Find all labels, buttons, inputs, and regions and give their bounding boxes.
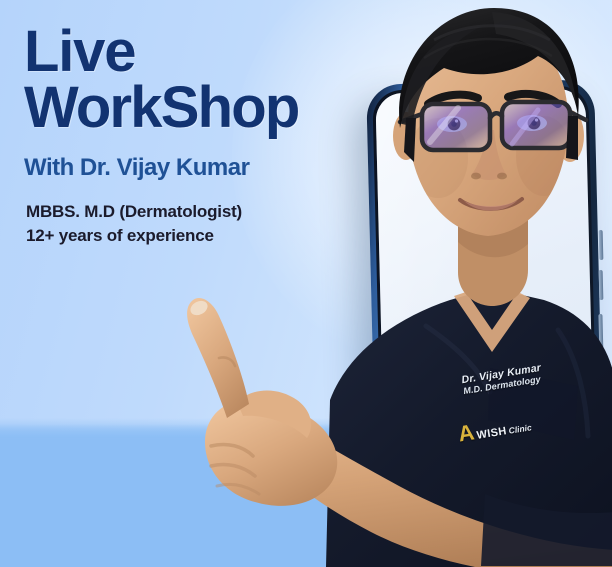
headline-block: Live WorkShop With Dr. Vijay Kumar MBBS.…: [24, 24, 354, 248]
subtitle: With Dr. Vijay Kumar: [24, 154, 354, 182]
phone-screen: [375, 89, 596, 561]
page-title: Live WorkShop: [24, 24, 354, 137]
phone-volume-down-button: [599, 270, 604, 300]
credential-line-1: MBBS. M.D (Dermatologist): [26, 200, 354, 224]
phone-bezel: [372, 85, 599, 563]
credential-line-2: 12+ years of experience: [26, 224, 354, 248]
headline-line-2: WorkShop: [24, 80, 354, 136]
phone-frame: [366, 79, 606, 567]
phone-volume-up-button: [599, 230, 604, 260]
headline-line-1: Live: [24, 19, 135, 84]
credentials-block: MBBS. M.D (Dermatologist) 12+ years of e…: [26, 200, 354, 248]
phone-mockup: [372, 82, 600, 567]
screen-glare: [375, 89, 520, 561]
live-workshop-banner: Dr. Vijay Kumar M.D. Dermatology A WISH …: [0, 0, 612, 567]
